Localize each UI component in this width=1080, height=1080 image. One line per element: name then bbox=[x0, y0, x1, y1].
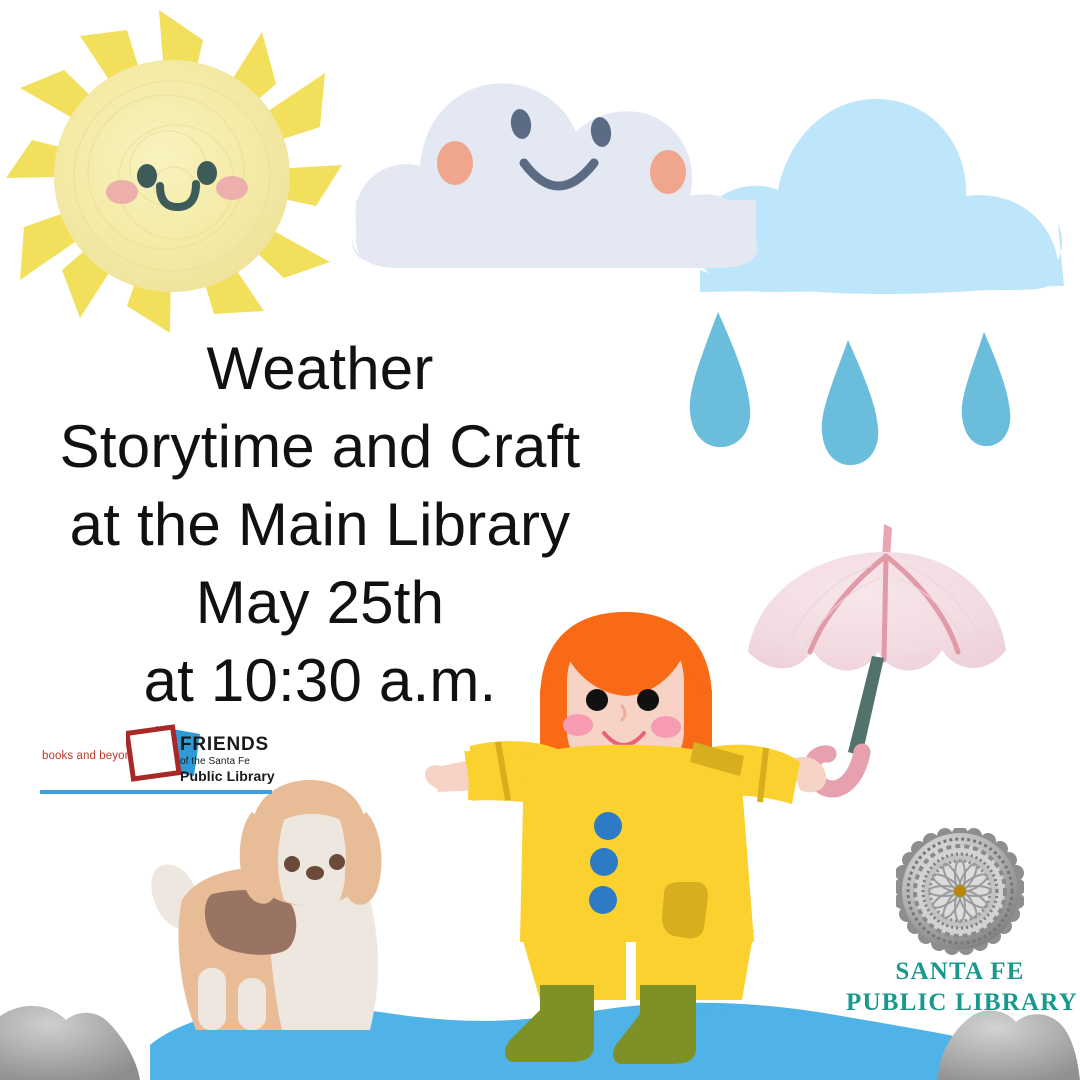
friends-logo-rule bbox=[40, 790, 272, 794]
dog-icon bbox=[151, 780, 381, 1030]
sun-cheek-left bbox=[106, 180, 138, 204]
friends-wordmark: FRIENDS of the Santa Fe Public Library bbox=[180, 734, 288, 785]
sfpl-line2: PUBLIC LIBRARY bbox=[846, 987, 1074, 1018]
friends-wordmark-line2: of the Santa Fe bbox=[180, 755, 288, 768]
girl-eye-left bbox=[586, 689, 608, 711]
cloud-face-icon bbox=[352, 83, 758, 268]
friends-of-library-logo: books and beyond... FRIENDS of the Santa… bbox=[38, 714, 286, 806]
weather-storytime-poster: Weather Storytime and Craft at the Main … bbox=[0, 0, 1080, 1080]
sun-eye-right bbox=[197, 161, 217, 185]
girl-eye-right bbox=[637, 689, 659, 711]
girl-coat-pocket bbox=[662, 882, 708, 939]
concho-medallion-icon bbox=[896, 828, 1024, 956]
friends-wordmark-line3: Public Library bbox=[180, 768, 288, 785]
sun-icon bbox=[6, 10, 342, 333]
cloud-cheek-left bbox=[437, 141, 473, 185]
sun-eye-left bbox=[137, 164, 157, 188]
sfpl-line1: SANTA FE bbox=[846, 956, 1074, 987]
cloud-cheek-right bbox=[650, 150, 686, 194]
girl-cheek-left bbox=[563, 714, 593, 736]
santa-fe-public-library-logo: SANTA FE PUBLIC LIBRARY bbox=[846, 828, 1074, 1040]
girl-icon bbox=[425, 612, 826, 1064]
dog-eye-left bbox=[284, 856, 300, 872]
girl-coat-button-3 bbox=[589, 886, 617, 914]
dog-nose bbox=[306, 866, 324, 880]
friends-wordmark-line1: FRIENDS bbox=[180, 734, 288, 755]
girl-cheek-right bbox=[651, 716, 681, 738]
raindrops-icon bbox=[690, 312, 1010, 465]
sun-cheek-right bbox=[216, 176, 248, 200]
concho-center bbox=[954, 885, 966, 897]
umbrella-icon bbox=[748, 524, 1006, 789]
girl-coat-button-1 bbox=[594, 812, 622, 840]
blue-cloud-icon bbox=[696, 99, 1064, 294]
dog-eye-right bbox=[329, 854, 345, 870]
sfpl-wordmark: SANTA FE PUBLIC LIBRARY bbox=[846, 956, 1074, 1018]
girl-coat-button-2 bbox=[590, 848, 618, 876]
